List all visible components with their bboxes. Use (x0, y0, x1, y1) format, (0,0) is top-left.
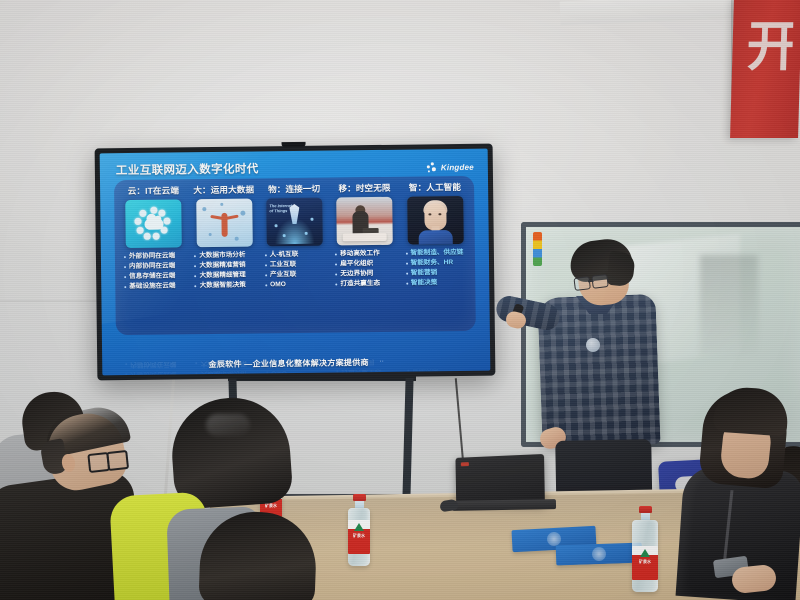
bottle-label-text: 矿泉水 (632, 559, 658, 564)
bullet-text: OMO (270, 281, 286, 289)
list-item: 大数据市场分析 (194, 251, 257, 259)
water-bottle[interactable]: 矿泉水 (348, 494, 370, 566)
slide-column-iot: 物：连接一切 The Internetof Things (259, 183, 331, 330)
bottle-cap (639, 506, 652, 513)
list-item: 信息存储在云端 (124, 273, 187, 281)
worker-desk (343, 233, 387, 242)
humanoid-robot-image (407, 196, 464, 245)
laptop[interactable] (455, 454, 544, 504)
bottle-label-text: 矿泉水 (348, 533, 370, 538)
bottle-cap (353, 494, 366, 501)
bottle-label: 矿泉水 (348, 520, 370, 554)
audience-eyeglasses-icon (87, 450, 128, 469)
column-header: 智：人工智能 (409, 181, 461, 194)
bullet-text: 人-机互联 (270, 251, 299, 259)
slide-column-mobile: 移：时空无限 移动高效工作 扁平化组织 无边界协同 (329, 182, 401, 329)
bullet-text: 打造共赢生态 (340, 280, 380, 288)
slide-column-cloud: 云：IT在云端 (118, 184, 190, 331)
bullet-text: 无边界协同 (340, 270, 373, 278)
list-item: 移动高效工作 (335, 250, 398, 258)
red-wall-banner: 开 (730, 0, 800, 138)
list-item: 基础设施在云端 (124, 283, 187, 291)
figure-arm-right (225, 215, 238, 220)
bullet-text: 移动高效工作 (340, 250, 380, 258)
list-item: 人-机互联 (265, 251, 328, 259)
bullet-text: 大数据市场分析 (199, 252, 245, 260)
column-header: 移：时空无限 (338, 182, 390, 195)
list-item: 无边界协同 (335, 270, 398, 278)
list-item: 智能制造、供应链 (405, 249, 468, 257)
banner-character: 开 (746, 20, 794, 78)
bottle-body: 矿泉水 (632, 520, 658, 592)
column-header: 物：连接一切 (268, 183, 320, 196)
mobile-worker-image (337, 197, 394, 246)
footer-dots: ·· (379, 358, 384, 365)
list-item: OMO (265, 281, 328, 289)
bullet-text: 大数据智能决策 (200, 282, 246, 290)
kingdee-logo: Kingdee (427, 162, 474, 174)
bullet-text: 产业互联 (270, 271, 296, 279)
bullet-text: 大数据精细管理 (200, 272, 246, 280)
laptop-logo (461, 462, 469, 466)
bottle-neck (355, 501, 364, 508)
marker-set-icon (533, 232, 542, 266)
presentation-slide: 工业互联网迈入数字化时代 Kingdee 云：IT在云端 (100, 149, 491, 376)
column-bullets: 移动高效工作 扁平化组织 无边界协同 打造共赢生态 (332, 250, 399, 289)
bullet-text: 智能制造、供应链 (410, 249, 463, 257)
column-bullets: 大数据市场分析 大数据精准营销 大数据精细管理 大数据智能决策 (191, 251, 258, 290)
slide-column-ai: 智：人工智能 智能制造、供应链 智能财务、 (400, 181, 472, 328)
conference-room-photo: 开 工业互联网迈入数字化时代 Kingdee (0, 0, 800, 600)
bullet-text: 智能财务、HR (411, 259, 454, 267)
robot-body (418, 230, 452, 244)
bullet-text: 信息存储在云端 (129, 273, 175, 281)
list-item: 工业互联 (265, 261, 328, 269)
hair-highlight (206, 414, 250, 436)
tv-camera-icon (282, 142, 306, 147)
whiteboard-reflection (700, 255, 758, 355)
presentation-television[interactable]: 工业互联网迈入数字化时代 Kingdee 云：IT在云端 (95, 144, 496, 381)
list-item: 打造共赢生态 (335, 280, 398, 288)
list-item: 大数据精准营销 (194, 262, 257, 270)
water-bottle[interactable]: 矿泉水 (632, 506, 658, 592)
cloud-shape-icon (144, 219, 163, 230)
mountain-icon (640, 549, 650, 557)
iot-glow (274, 218, 314, 244)
robot-eye-right (438, 213, 441, 215)
kingdee-dots-icon (427, 162, 438, 173)
kingdee-wordmark: Kingdee (441, 163, 474, 172)
bullet-text: 内部协同在云端 (129, 263, 175, 271)
column-bullets: 人-机互联 工业互联 产业互联 OMO (262, 251, 329, 290)
internet-of-things-image: The Internetof Things (266, 198, 323, 247)
list-item: 智能财务、HR (406, 259, 469, 267)
cloud-ring-icon (125, 199, 182, 248)
list-item: 内部协同在云端 (124, 262, 187, 270)
tv-screen: 工业互联网迈入数字化时代 Kingdee 云：IT在云端 (100, 149, 491, 376)
list-item: 扁平化组织 (335, 260, 398, 268)
bullet-text: 外部协同在云端 (129, 252, 175, 260)
bottle-neck (641, 513, 650, 520)
list-item: 智能营销 (406, 269, 469, 277)
list-item: 产业互联 (265, 271, 328, 279)
footer-text: 金辰软件 —企业信息化整体解决方案提供商 (208, 357, 368, 370)
mountain-icon (354, 523, 364, 531)
bullet-text: 基础设施在云端 (129, 283, 175, 291)
list-item: 大数据精细管理 (195, 272, 258, 280)
column-header: 云：IT在云端 (128, 184, 179, 197)
column-header: 大：运用大数据 (193, 183, 254, 196)
list-item: 外部协同在云端 (124, 252, 187, 260)
figure-arm-left (210, 215, 223, 220)
list-item: 大数据智能决策 (195, 282, 258, 290)
bottle-body: 矿泉水 (348, 508, 370, 566)
bullet-text: 智能营销 (411, 269, 437, 277)
bullet-text: 工业互联 (270, 261, 296, 269)
slide-content-panel: 云：IT在云端 (114, 176, 476, 335)
data-particles-figure-image (196, 199, 253, 248)
column-bullets: 智能制造、供应链 智能财务、HR 智能营销 智能决策 (402, 249, 469, 288)
laptop-keyboard[interactable] (452, 499, 556, 511)
list-item: 智能决策 (406, 279, 469, 287)
presenter-shirt-logo (586, 338, 600, 352)
tv-stand-right-post (402, 378, 413, 498)
bullet-text: 大数据精准营销 (199, 262, 245, 270)
slide-columns: 云：IT在云端 (114, 176, 476, 335)
bullet-text: 智能决策 (411, 280, 437, 288)
bottle-label: 矿泉水 (632, 546, 658, 580)
bullet-text: 扁平化组织 (340, 260, 373, 268)
iot-caption: The Internetof Things (269, 204, 292, 213)
slide-column-bigdata: 大：运用大数据 (188, 183, 260, 330)
robot-eye-left (428, 213, 431, 215)
blue-folder[interactable] (556, 543, 643, 566)
column-bullets: 外部协同在云端 内部协同在云端 信息存储在云端 基础设施在云端 (121, 252, 188, 291)
slide-title: 工业互联网迈入数字化时代 (116, 160, 259, 178)
